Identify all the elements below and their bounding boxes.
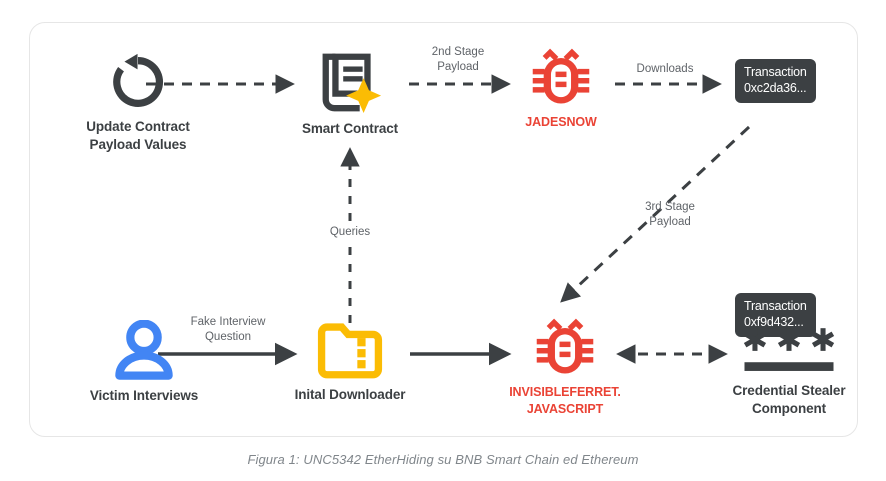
node-jadesnow: JADESNOW [496,47,626,131]
edge-label-2nd-stage-line1: 2nd Stage [408,45,508,60]
edge-label-fake-interview-line2: Question [170,330,286,345]
edge-label-queries: Queries [307,223,393,242]
contract-document-sparkle-icon [317,49,383,115]
node-smart-contract: Smart Contract [280,49,420,138]
person-icon [113,320,175,382]
asterisk-password-icon [741,325,837,375]
node-credential-stealer-label-line1: Credential Stealer [714,383,864,400]
node-transaction-1: Transaction 0xc2da36... [735,59,816,103]
node-jadesnow-label: JADESNOW [496,115,626,131]
bug-icon [534,317,596,379]
edge-label-3rd-stage-payload: 3rd Stage Payload [620,200,720,230]
edge-label-queries-text: Queries [307,225,393,240]
edge-label-2nd-stage-payload: 2nd Stage Payload [408,45,508,75]
transaction-1-line1: Transaction [744,65,807,81]
edge-label-downloads-text: Downloads [613,62,717,77]
node-victim-interviews-label: Victim Interviews [57,388,231,405]
edge-label-3rd-stage-line1: 3rd Stage [620,200,720,215]
node-initial-downloader: Inital Downloader [282,319,418,404]
node-invisibleferret: INVISIBLEFERRET. JAVASCRIPT [496,317,634,417]
diagram-card: Update Contract Payload Values Smart Con… [29,22,858,437]
node-update-contract: Update Contract Payload Values [48,51,228,154]
edge-label-3rd-stage-line2: Payload [620,215,720,230]
edge-label-fake-interview-question: Fake Interview Question [170,315,286,345]
figure-caption: Figura 1: UNC5342 EtherHiding su BNB Sma… [0,452,886,467]
node-smart-contract-label: Smart Contract [280,121,420,138]
node-update-contract-label-line2: Payload Values [48,137,228,154]
node-credential-stealer-label-line2: Component [714,401,864,418]
edge-label-2nd-stage-line2: Payload [408,60,508,75]
transaction-1-line2: 0xc2da36... [744,81,807,97]
node-invisibleferret-label-line2: JAVASCRIPT [496,402,634,418]
node-invisibleferret-label-line1: INVISIBLEFERRET. [496,385,634,401]
bug-icon [530,47,592,109]
node-update-contract-label-line1: Update Contract [48,119,228,136]
refresh-circular-arrow-icon [107,51,169,113]
folder-download-icon [317,319,383,381]
edge-label-fake-interview-line1: Fake Interview [170,315,286,330]
node-initial-downloader-label: Inital Downloader [282,387,418,404]
edge-label-downloads: Downloads [613,62,717,77]
transaction-2-line1: Transaction [744,299,807,315]
node-credential-stealer: Credential Stealer Component [714,325,864,418]
